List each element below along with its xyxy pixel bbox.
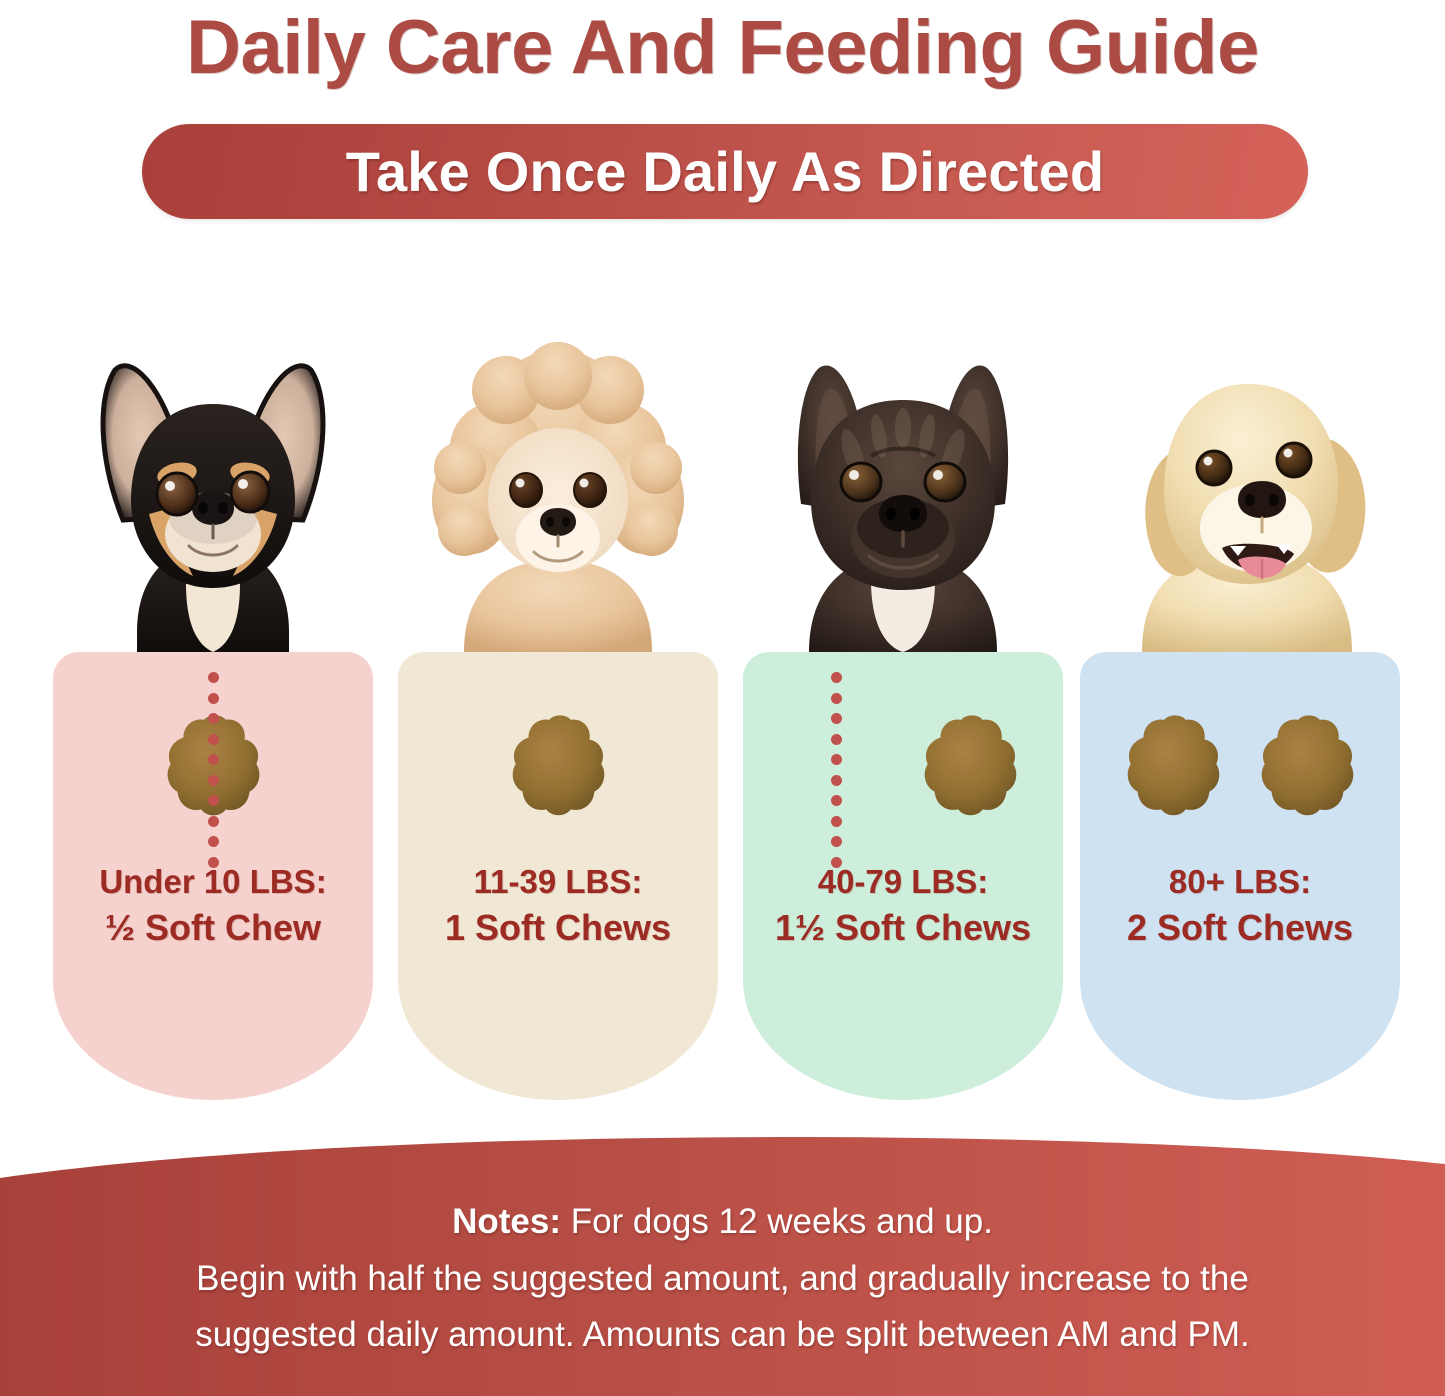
dog-photo-chihuahua bbox=[53, 332, 373, 652]
notes-banner: Notes: For dogs 12 weeks and up. Begin w… bbox=[0, 1120, 1445, 1396]
chew-group bbox=[743, 694, 1063, 844]
chew-icon bbox=[499, 710, 617, 828]
dosage-panel: 80+ LBS: 2 Soft Chews bbox=[1080, 652, 1400, 1100]
subtitle-text: Take Once Daily As Directed bbox=[346, 139, 1105, 204]
dose-label: ½ Soft Chew bbox=[53, 904, 373, 952]
half-chew-icon bbox=[777, 710, 895, 828]
feeding-guide-page: Daily Care And Feeding Guide Take Once D… bbox=[0, 0, 1445, 1396]
chew-group bbox=[1080, 694, 1400, 844]
notes-label: Notes: bbox=[452, 1202, 561, 1241]
dosage-card-row: Under 10 LBS: ½ Soft Chew bbox=[0, 300, 1445, 1110]
dosage-card-11-39-lbs: 11-39 LBS: 1 Soft Chews bbox=[398, 300, 718, 1100]
chew-group bbox=[398, 694, 718, 844]
notes-line-1: Notes: For dogs 12 weeks and up. bbox=[0, 1194, 1445, 1251]
weight-range-label: 80+ LBS: bbox=[1080, 860, 1400, 904]
half-chew-icon bbox=[154, 710, 272, 828]
notes-line-1-rest: For dogs 12 weeks and up. bbox=[561, 1202, 993, 1241]
dog-photo-golden-retriever bbox=[1080, 332, 1400, 652]
notes-line-3: suggested daily amount. Amounts can be s… bbox=[0, 1307, 1445, 1364]
dosage-card-under-10-lbs: Under 10 LBS: ½ Soft Chew bbox=[53, 300, 373, 1100]
chew-icon bbox=[911, 710, 1029, 828]
dosage-card-80-plus-lbs: 80+ LBS: 2 Soft Chews bbox=[1080, 300, 1400, 1100]
dog-photo-french-bulldog bbox=[743, 332, 1063, 652]
dosage-caption: 40-79 LBS: 1½ Soft Chews bbox=[743, 860, 1063, 951]
notes-line-2: Begin with half the suggested amount, an… bbox=[0, 1251, 1445, 1308]
dosage-panel: Under 10 LBS: ½ Soft Chew bbox=[53, 652, 373, 1100]
dosage-caption: 11-39 LBS: 1 Soft Chews bbox=[398, 860, 718, 951]
weight-range-label: Under 10 LBS: bbox=[53, 860, 373, 904]
dosage-panel: 11-39 LBS: 1 Soft Chews bbox=[398, 652, 718, 1100]
weight-range-label: 11-39 LBS: bbox=[398, 860, 718, 904]
dose-label: 1 Soft Chews bbox=[398, 904, 718, 952]
chew-icon bbox=[1248, 710, 1366, 828]
dog-photo-toy-poodle bbox=[398, 332, 718, 652]
dosage-card-40-79-lbs: 40-79 LBS: 1½ Soft Chews bbox=[743, 300, 1063, 1100]
dose-label: 1½ Soft Chews bbox=[743, 904, 1063, 952]
dosage-caption: 80+ LBS: 2 Soft Chews bbox=[1080, 860, 1400, 951]
chew-group bbox=[53, 694, 373, 844]
dose-label: 2 Soft Chews bbox=[1080, 904, 1400, 952]
chew-icon bbox=[1114, 710, 1232, 828]
notes-text: Notes: For dogs 12 weeks and up. Begin w… bbox=[0, 1194, 1445, 1364]
page-title: Daily Care And Feeding Guide bbox=[0, 8, 1445, 89]
weight-range-label: 40-79 LBS: bbox=[743, 860, 1063, 904]
dosage-panel: 40-79 LBS: 1½ Soft Chews bbox=[743, 652, 1063, 1100]
dosage-caption: Under 10 LBS: ½ Soft Chew bbox=[53, 860, 373, 951]
subtitle-banner: Take Once Daily As Directed bbox=[142, 124, 1308, 219]
